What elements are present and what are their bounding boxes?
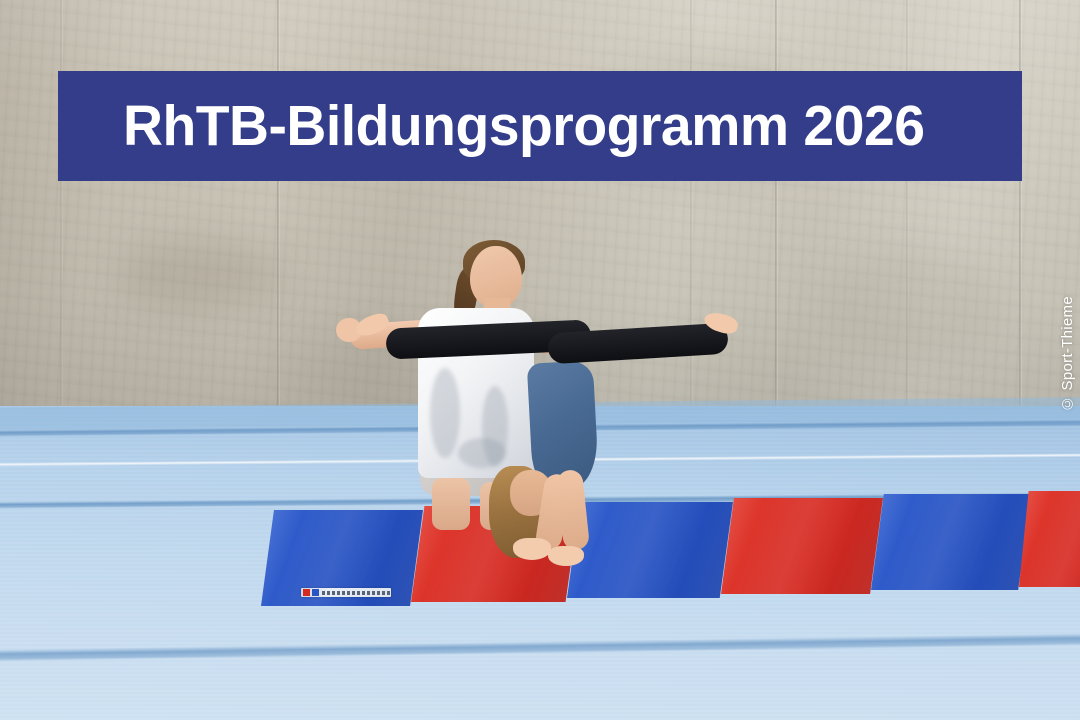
title-banner: RhTB-Bildungsprogramm 2026 — [58, 71, 1022, 181]
photo-credit: © Sport-Thieme — [1059, 296, 1076, 412]
page-title: RhTB-Bildungsprogramm 2026 — [123, 98, 924, 155]
screenshot-root: RhTB-Bildungsprogramm 2026 © Sport-Thiem… — [0, 0, 1080, 720]
